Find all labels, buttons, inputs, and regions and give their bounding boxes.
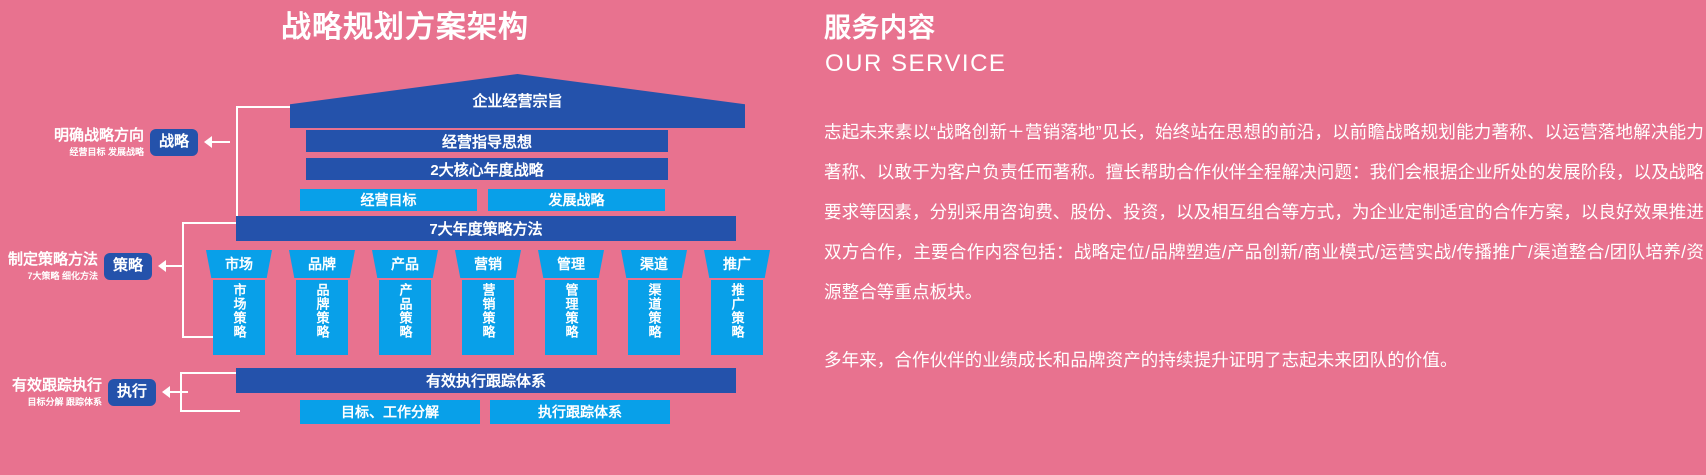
tactic-col-7-body-text: 推广策略 — [731, 283, 744, 339]
service-body: 志起未来素以“战略创新＋营销落地”见长，始终站在思想的前沿，以前瞻战略规划能力著… — [824, 112, 1704, 380]
stage-tactic-chip[interactable]: 策略 — [104, 253, 152, 280]
tactic-col-6-cap: 渠道 — [621, 250, 687, 278]
page-title: 战略规划方案架构 — [0, 2, 810, 46]
tactic-col-3-body: 产品策略 — [379, 280, 431, 355]
stage-execution: 有效跟踪执行 目标分解 跟踪体系 执行 — [12, 378, 188, 407]
strategy-bar-1: 经营指导思想 — [306, 130, 668, 152]
tactic-col-5-body: 管理策略 — [545, 280, 597, 355]
tactic-col-4-body-text: 营销策略 — [482, 283, 495, 339]
slide-canvas: 战略规划方案架构 明确战略方向 经营目标 发展战略 战略 制定策略方法 7大策略… — [0, 0, 1706, 475]
execution-pair-tracking: 执行跟踪体系 — [490, 400, 670, 424]
tactic-col-1-body: 市场策略 — [213, 280, 265, 355]
strategy-pair-development: 发展战略 — [488, 189, 665, 211]
roof-label: 企业经营宗旨 — [290, 90, 745, 111]
tactic-col-4-cap: 营销 — [455, 250, 521, 278]
left-arrow-icon — [204, 136, 230, 148]
tactic-col-1-body-text: 市场策略 — [233, 283, 246, 339]
stage-tactic-texts: 制定策略方法 7大策略 细化方法 — [8, 252, 98, 281]
execution-header: 有效执行跟踪体系 — [236, 368, 736, 393]
tactic-col-2-body-text: 品牌策略 — [316, 283, 329, 339]
stage-strategy-chip[interactable]: 战略 — [150, 129, 198, 156]
tactic-header: 7大年度策略方法 — [236, 216, 736, 241]
tactic-col-3-body-text: 产品策略 — [399, 283, 412, 339]
service-paragraph-1: 志起未来素以“战略创新＋营销落地”见长，始终站在思想的前沿，以前瞻战略规划能力著… — [824, 112, 1704, 312]
tactic-col-7-cap: 推广 — [704, 250, 770, 278]
stage-strategy-texts: 明确战略方向 经营目标 发展战略 — [54, 128, 144, 157]
stage-execution-main: 有效跟踪执行 — [12, 378, 102, 395]
service-title-en: OUR SERVICE — [825, 50, 1006, 78]
stage-strategy-main: 明确战略方向 — [54, 128, 144, 145]
tactic-col-6-body-text: 渠道策略 — [648, 283, 661, 339]
stage-strategy-sub: 经营目标 发展战略 — [54, 147, 144, 157]
service-panel: 服务内容 OUR SERVICE 志起未来素以“战略创新＋营销落地”见长，始终站… — [824, 0, 1706, 475]
stage-tactic-sub: 7大策略 细化方法 — [8, 271, 98, 281]
tactic-col-2-body: 品牌策略 — [296, 280, 348, 355]
strategy-diagram-panel: 战略规划方案架构 明确战略方向 经营目标 发展战略 战略 制定策略方法 7大策略… — [0, 0, 810, 475]
stage-tactic-main: 制定策略方法 — [8, 252, 98, 269]
stage-execution-texts: 有效跟踪执行 目标分解 跟踪体系 — [12, 378, 102, 407]
left-arrow-icon — [162, 386, 188, 398]
tactic-col-5-body-text: 管理策略 — [565, 283, 578, 339]
bracket-strategy — [236, 106, 296, 218]
stage-strategy: 明确战略方向 经营目标 发展战略 战略 — [54, 128, 230, 157]
tactic-col-6-body: 渠道策略 — [628, 280, 680, 355]
tactic-col-7-body: 推广策略 — [711, 280, 763, 355]
tactic-col-1-cap: 市场 — [206, 250, 272, 278]
execution-pair-decompose: 目标、工作分解 — [300, 400, 480, 424]
tactic-col-4-body: 营销策略 — [462, 280, 514, 355]
strategy-bar-2: 2大核心年度战略 — [306, 158, 668, 180]
tactic-col-3-cap: 产品 — [372, 250, 438, 278]
tactic-col-5-cap: 管理 — [538, 250, 604, 278]
strategy-pair-goal: 经营目标 — [300, 189, 477, 211]
service-paragraph-2: 多年来，合作伙伴的业绩成长和品牌资产的持续提升证明了志起未来团队的价值。 — [824, 340, 1704, 380]
stage-tactic: 制定策略方法 7大策略 细化方法 策略 — [8, 252, 184, 281]
tactic-col-2-cap: 品牌 — [289, 250, 355, 278]
left-arrow-icon — [158, 260, 184, 272]
stage-execution-sub: 目标分解 跟踪体系 — [12, 397, 102, 407]
service-title-cn: 服务内容 — [824, 6, 936, 45]
bracket-execution — [180, 372, 240, 412]
stage-execution-chip[interactable]: 执行 — [108, 379, 156, 406]
